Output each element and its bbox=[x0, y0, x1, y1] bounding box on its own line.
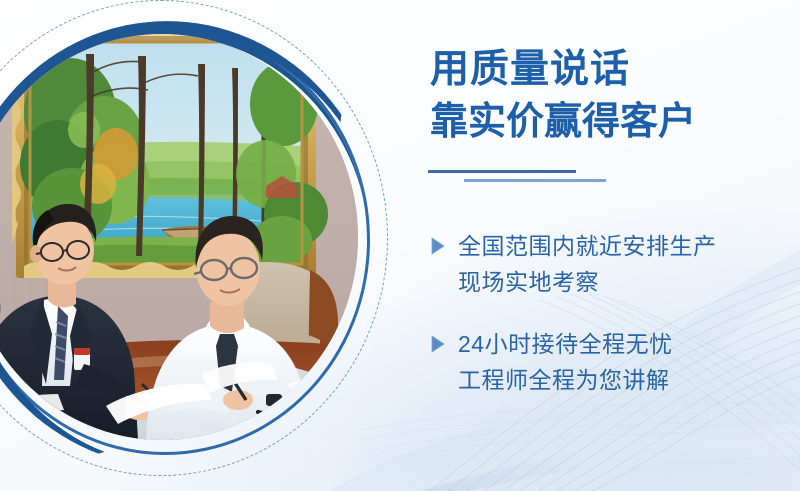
promo-banner: 用质量说话 靠实价赢得客户 全国范围内就近安排生产 现场实地考察 bbox=[0, 0, 800, 491]
headline-block: 用质量说话 靠实价赢得客户 bbox=[430, 44, 696, 148]
bullet-1-line-1: 全国范围内就近安排生产 bbox=[458, 228, 717, 264]
bullet-item-1: 全国范围内就近安排生产 现场实地考察 bbox=[428, 228, 800, 300]
feature-bullet-list: 全国范围内就近安排生产 现场实地考察 24小时接待全程无忧 工 bbox=[428, 228, 800, 424]
circular-photo-frame bbox=[0, 0, 422, 491]
banner-content: 用质量说话 靠实价赢得客户 全国范围内就近安排生产 现场实地考察 bbox=[428, 0, 800, 491]
bullet-2-line-2: 工程师全程为您讲解 bbox=[458, 362, 670, 398]
arrow-right-triangle-icon bbox=[428, 329, 448, 359]
bullet-2-line-1: 24小时接待全程无忧 bbox=[458, 326, 673, 362]
bullet-item-2: 24小时接待全程无忧 工程师全程为您讲解 bbox=[428, 326, 800, 398]
arrow-right-triangle-icon bbox=[428, 231, 448, 261]
headline-line-1: 用质量说话 bbox=[430, 44, 696, 96]
headline-line-2: 靠实价赢得客户 bbox=[430, 96, 696, 148]
divider-line-bottom bbox=[464, 179, 606, 182]
divider-line-top bbox=[428, 170, 576, 173]
headline-divider bbox=[428, 170, 618, 192]
bullet-1-line-2: 现场实地考察 bbox=[458, 264, 599, 300]
